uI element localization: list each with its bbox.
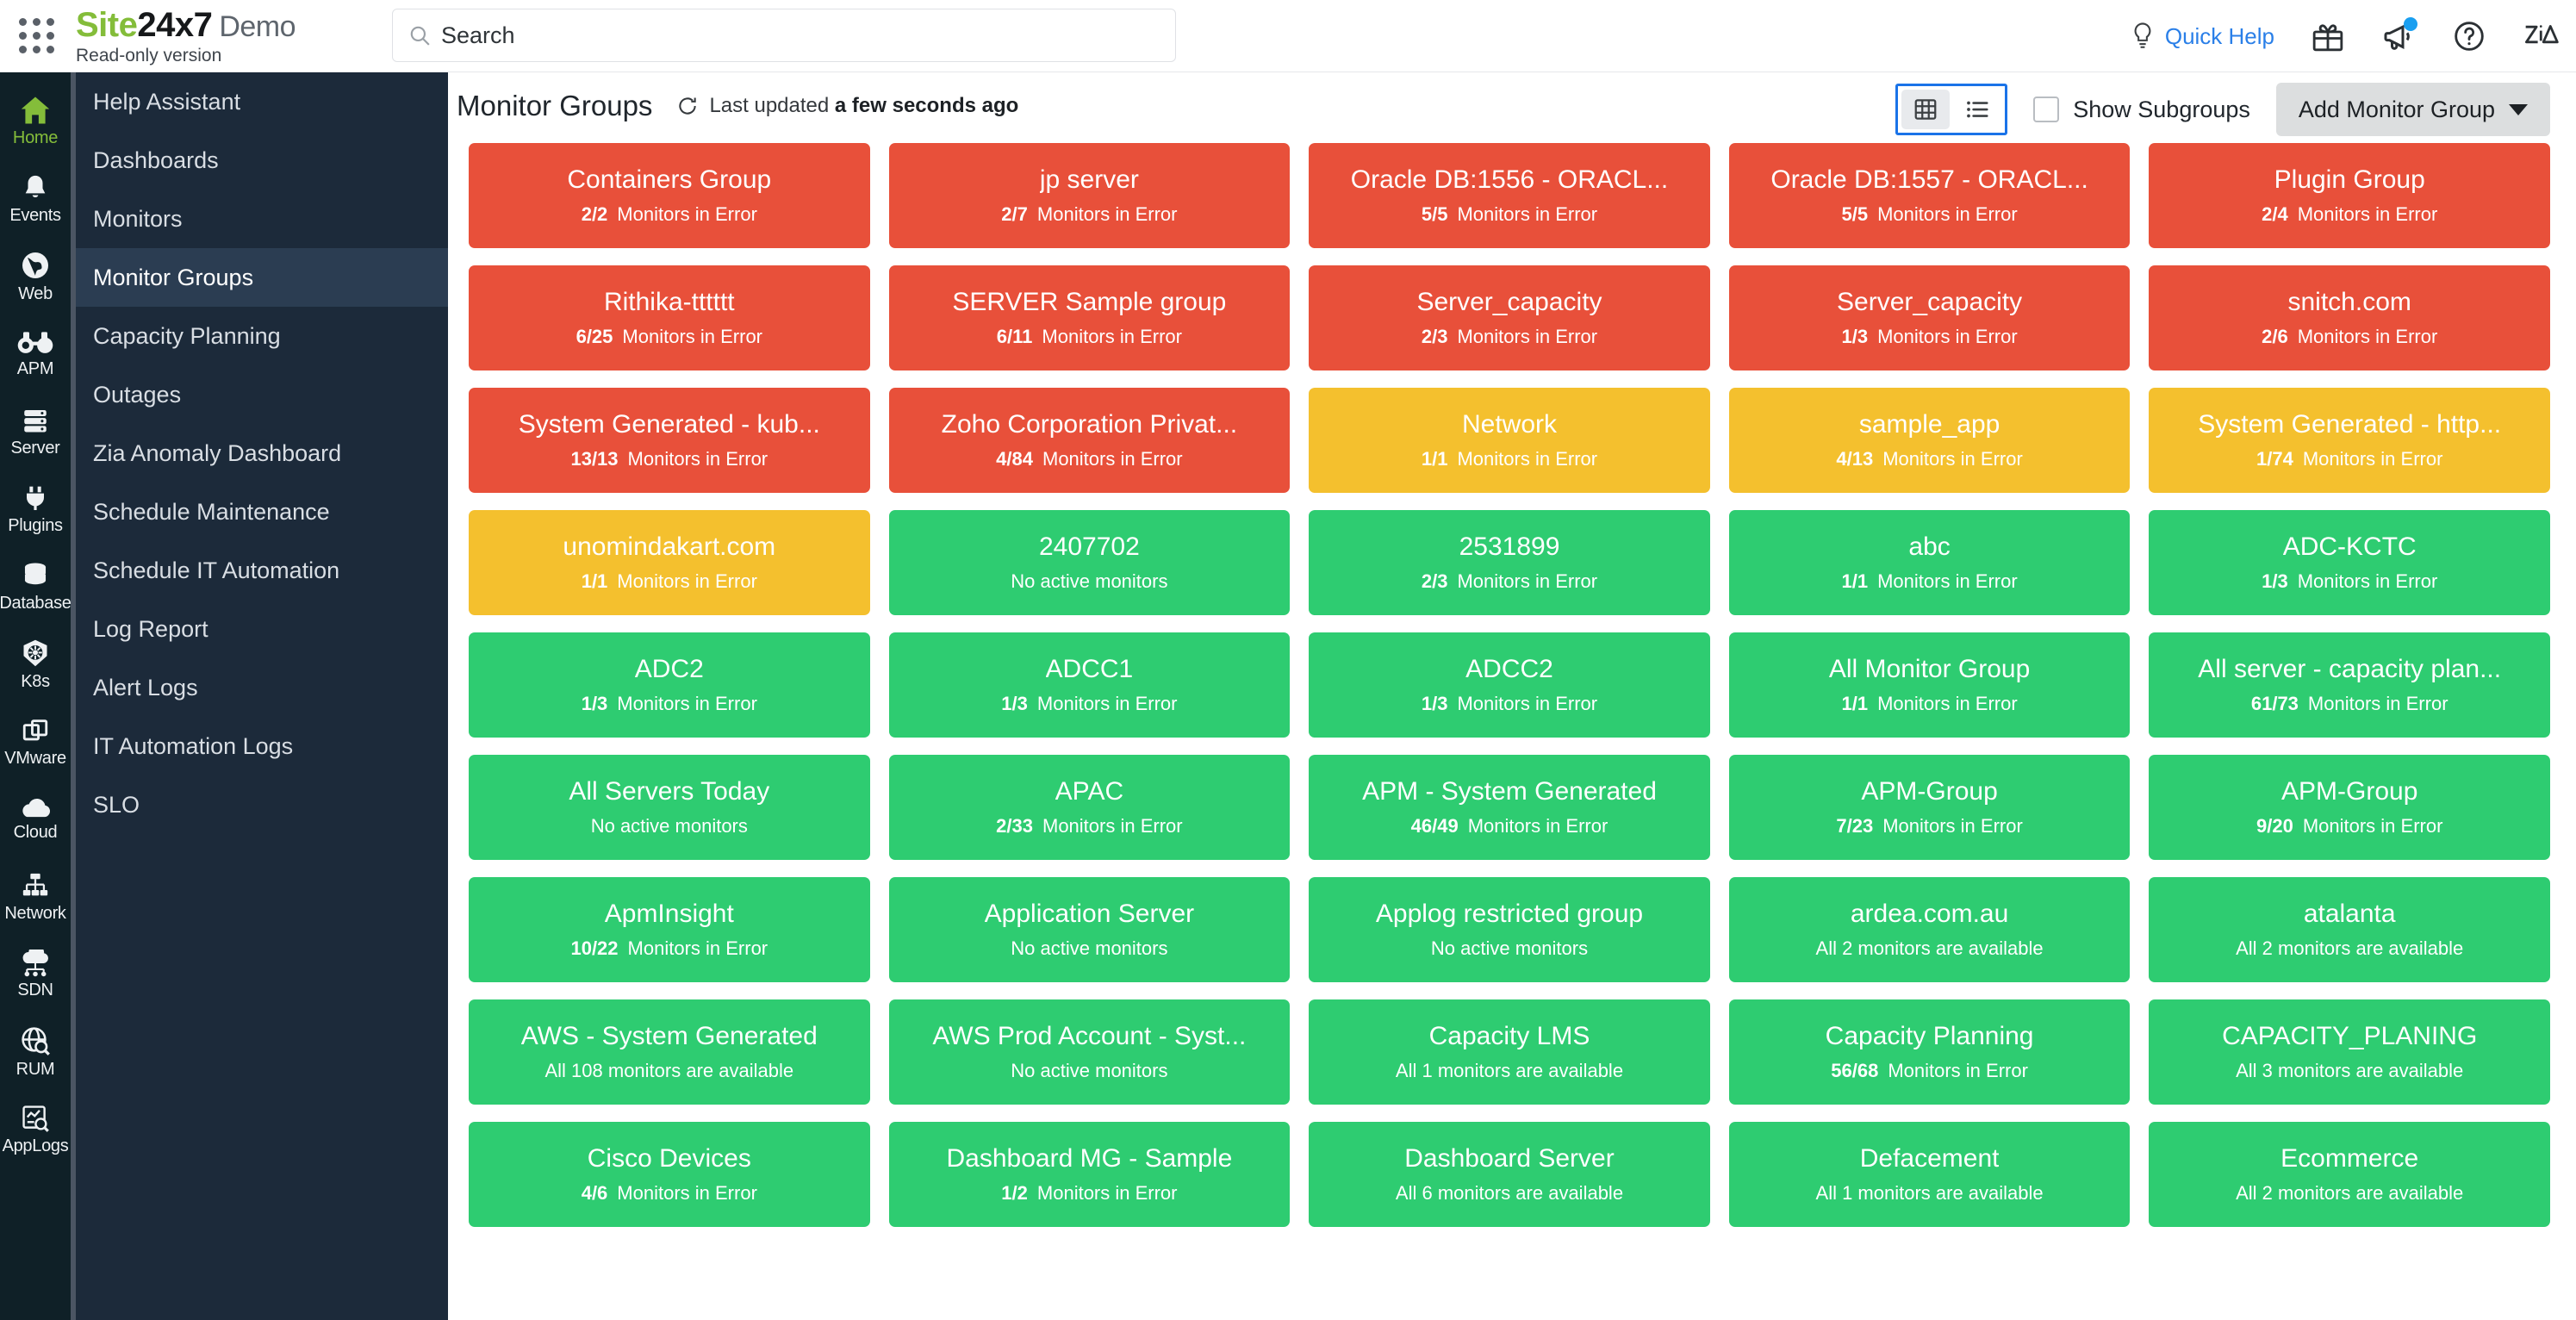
primary-nav-rail: Home Events Web APM Server Plugins Datab… [0,72,71,1320]
monitor-group-card[interactable]: ADCC11/3Monitors in Error [889,632,1291,738]
sidebar-item-outages[interactable]: Outages [76,365,448,424]
monitor-group-status: 2/4Monitors in Error [2262,203,2437,226]
monitor-group-status: 2/33Monitors in Error [996,815,1182,837]
monitor-group-status: No active monitors [1011,570,1167,593]
rail-label: RUM [16,1060,55,1080]
monitor-group-name: SERVER Sample group [952,288,1226,317]
refresh-icon[interactable] [676,95,699,117]
show-subgroups-label: Show Subgroups [2073,97,2250,123]
monitor-group-card[interactable]: Dashboard MG - Sample1/2Monitors in Erro… [889,1122,1291,1227]
monitor-group-card[interactable]: Capacity Planning56/68Monitors in Error [1729,999,2131,1105]
monitor-error-count: 1/3 [2262,570,2288,593]
monitor-group-status: 46/49Monitors in Error [1411,815,1608,837]
quick-help-label: Quick Help [2165,23,2274,50]
monitor-group-name: Plugin Group [2274,165,2425,195]
monitor-group-card[interactable]: ADC-KCTC1/3Monitors in Error [2149,510,2550,615]
monitor-status-text: No active monitors [591,815,748,837]
monitor-error-count: 4/6 [582,1182,608,1205]
monitor-group-status: 1/1Monitors in Error [582,570,757,593]
monitor-group-name: snitch.com [2288,288,2411,317]
monitor-group-status: 1/1Monitors in Error [1422,448,1597,470]
rail-item-plugins[interactable]: Plugins [0,470,71,548]
monitor-group-status: 13/13Monitors in Error [570,448,768,470]
search-input[interactable] [441,22,1160,49]
monitor-error-count: 7/23 [1836,815,1873,837]
monitor-group-name: sample_app [1859,410,2000,439]
monitor-group-status: All 108 monitors are available [544,1060,793,1082]
monitor-group-name: CAPACITY_PLANING [2222,1022,2477,1051]
monitor-group-name: Capacity Planning [1826,1022,2034,1051]
monitor-group-status: 1/2Monitors in Error [1001,1182,1177,1205]
monitor-group-card[interactable]: ApmInsight10/22Monitors in Error [469,877,870,982]
server-rack-icon [21,406,50,435]
monitor-group-card[interactable]: Network1/1Monitors in Error [1309,388,1710,493]
monitor-group-status: All 1 monitors are available [1396,1060,1623,1082]
search-icon [408,24,431,47]
monitor-group-card[interactable]: Server_capacity2/3Monitors in Error [1309,265,1710,370]
monitor-group-card[interactable]: SERVER Sample group6/11Monitors in Error [889,265,1291,370]
monitor-error-count: 10/22 [570,937,618,960]
monitor-status-text: Monitors in Error [1468,815,1608,837]
monitor-error-count: 1/3 [582,693,608,715]
monitor-group-card[interactable]: unomindakart.com1/1Monitors in Error [469,510,870,615]
gift-icon[interactable] [2311,19,2345,53]
sidebar-item-alert-logs[interactable]: Alert Logs [76,658,448,717]
rail-item-sdn[interactable]: SDN [0,936,71,1013]
monitor-error-count: 1/1 [1842,570,1869,593]
last-updated-text: Last updated a few seconds ago [709,94,1018,118]
page-title: Monitor Groups [457,90,652,122]
monitor-group-name: atalanta [2304,900,2396,929]
rail-label: Cloud [14,823,58,843]
monitor-group-card[interactable]: APM-Group9/20Monitors in Error [2149,755,2550,860]
header-controls: Show Subgroups Add Monitor Group [1895,83,2550,136]
monitor-group-name: Zoho Corporation Privat... [942,410,1238,439]
rail-item-applogs[interactable]: AppLogs [0,1091,71,1168]
monitor-group-status: 4/6Monitors in Error [582,1182,757,1205]
monitor-group-status: 1/3Monitors in Error [582,693,757,715]
monitor-group-name: All Monitor Group [1829,655,2030,684]
rail-item-apm[interactable]: APM [0,315,71,393]
monitor-group-status: 4/84Monitors in Error [996,448,1182,470]
globe-icon [20,250,51,281]
monitor-group-name: Oracle DB:1557 - ORACL... [1770,165,2088,195]
list-view-icon [1964,97,1990,122]
monitor-status-text: Monitors in Error [1457,203,1597,226]
monitor-group-card[interactable]: ADC21/3Monitors in Error [469,632,870,738]
sidebar-item-monitors[interactable]: Monitors [76,190,448,248]
binoculars-icon [17,330,53,356]
brand-logo[interactable]: Site24x7Demo Read-only version [76,8,296,65]
rail-item-events[interactable]: Events [0,160,71,238]
zia-logo-icon[interactable] [2523,19,2557,53]
brand-site: Site [76,6,137,44]
brand-demo: Demo [219,10,296,43]
brand-247: 24x7 [137,6,212,44]
monitor-group-card[interactable]: Oracle DB:1557 - ORACL...5/5Monitors in … [1729,143,2131,248]
monitor-error-count: 46/49 [1411,815,1459,837]
monitor-group-name: System Generated - kub... [519,410,820,439]
monitor-group-status: 2/7Monitors in Error [1001,203,1177,226]
monitor-group-card[interactable]: 25318992/3Monitors in Error [1309,510,1710,615]
monitor-group-status: 7/23Monitors in Error [1836,815,2022,837]
monitor-error-count: 2/2 [582,203,608,226]
secondary-sidebar: Help Assistant Dashboards Monitors Monit… [76,72,448,1320]
monitor-group-name: APM-Group [1861,777,1997,806]
bell-icon [21,173,50,202]
monitor-group-card[interactable]: Plugin Group2/4Monitors in Error [2149,143,2550,248]
rail-label: APM [17,359,53,379]
monitor-group-name: Network [1462,410,1557,439]
sidebar-item-log-report[interactable]: Log Report [76,600,448,658]
monitor-group-card[interactable]: snitch.com2/6Monitors in Error [2149,265,2550,370]
monitor-group-status: All 6 monitors are available [1396,1182,1623,1205]
monitor-group-status: 9/20Monitors in Error [2256,815,2442,837]
monitor-group-name: ADCC1 [1046,655,1134,684]
globe-search-icon [20,1025,51,1056]
monitor-status-text: All 2 monitors are available [1816,937,2044,960]
monitor-status-text: Monitors in Error [617,203,757,226]
monitor-error-count: 2/4 [2262,203,2288,226]
monitor-group-status: 1/3Monitors in Error [2262,570,2437,593]
sidebar-item-slo[interactable]: SLO [76,775,448,834]
windows-stack-icon [21,716,50,745]
monitor-error-count: 9/20 [2256,815,2293,837]
grid-view-icon [1913,97,1938,122]
rail-label: Plugins [8,516,63,536]
monitor-status-text: No active monitors [1011,570,1167,593]
monitor-error-count: 4/84 [996,448,1033,470]
monitor-group-status: 1/74Monitors in Error [2256,448,2442,470]
monitor-group-name: Containers Group [567,165,771,195]
monitor-group-card[interactable]: AWS Prod Account - Syst...No active moni… [889,999,1291,1105]
monitor-status-text: Monitors in Error [2303,448,2443,470]
quick-help-button[interactable]: Quick Help [2130,22,2274,51]
monitor-group-card[interactable]: Zoho Corporation Privat...4/84Monitors i… [889,388,1291,493]
monitor-status-text: Monitors in Error [1042,326,1182,348]
plug-icon [22,483,49,513]
monitor-group-card[interactable]: Rithika-tttttt6/25Monitors in Error [469,265,870,370]
monitor-group-card[interactable]: APAC2/33Monitors in Error [889,755,1291,860]
monitor-group-name: ADCC2 [1465,655,1553,684]
rail-item-server[interactable]: Server [0,393,71,470]
log-search-icon [21,1104,50,1133]
monitor-group-name: jp server [1040,165,1139,195]
monitor-group-name: Applog restricted group [1376,900,1643,929]
monitor-status-text: Monitors in Error [1877,570,2018,593]
add-monitor-group-button[interactable]: Add Monitor Group [2276,83,2550,136]
monitor-group-card[interactable]: Dashboard ServerAll 6 monitors are avail… [1309,1122,1710,1227]
grid-view-button[interactable] [1901,90,1950,129]
monitor-group-card[interactable]: Application ServerNo active monitors [889,877,1291,982]
top-bar: Site24x7Demo Read-only version Quick Hel… [0,0,2576,72]
monitor-status-text: Monitors in Error [617,570,757,593]
monitor-group-card[interactable]: System Generated - kub...13/13Monitors i… [469,388,870,493]
monitor-error-count: 1/3 [1842,326,1869,348]
rail-label: K8s [21,672,50,692]
monitor-group-card[interactable]: atalantaAll 2 monitors are available [2149,877,2550,982]
monitor-group-name: ardea.com.au [1851,900,2008,929]
monitor-group-card[interactable]: DefacementAll 1 monitors are available [1729,1122,2131,1227]
monitor-group-name: unomindakart.com [563,532,775,562]
page-header: Monitor Groups Last updated a few second… [448,72,2576,140]
monitor-group-name: ADC2 [635,655,704,684]
monitor-status-text: Monitors in Error [617,1182,757,1205]
rail-label: Home [13,128,58,148]
monitor-status-text: Monitors in Error [1042,448,1183,470]
monitor-group-status: No active monitors [591,815,748,837]
monitor-group-name: APM-Group [2281,777,2417,806]
monitor-error-count: 1/3 [1422,693,1448,715]
monitor-group-card[interactable]: AWS - System GeneratedAll 108 monitors a… [469,999,870,1105]
monitor-status-text: All 1 monitors are available [1396,1060,1623,1082]
sidebar-item-zia-anomaly-dashboard[interactable]: Zia Anomaly Dashboard [76,424,448,483]
monitor-group-status: 1/1Monitors in Error [1842,570,2018,593]
notification-badge [2404,17,2417,31]
rail-item-web[interactable]: Web [0,238,71,315]
global-search[interactable] [392,9,1176,62]
show-subgroups-toggle[interactable]: Show Subgroups [2033,97,2250,123]
sidebar-item-it-automation-logs[interactable]: IT Automation Logs [76,717,448,775]
monitor-group-status: 4/13Monitors in Error [1836,448,2022,470]
rail-item-cloud[interactable]: Cloud [0,781,71,858]
monitor-status-text: No active monitors [1431,937,1588,960]
rail-item-home[interactable]: Home [0,83,71,160]
monitor-group-status: 61/73Monitors in Error [2251,693,2448,715]
monitor-group-status: All 2 monitors are available [2236,937,2463,960]
monitor-group-name: ADC-KCTC [2283,532,2417,562]
monitor-group-card[interactable]: APM-Group7/23Monitors in Error [1729,755,2131,860]
monitor-status-text: Monitors in Error [1457,693,1597,715]
monitor-group-card[interactable]: Capacity LMSAll 1 monitors are available [1309,999,1710,1105]
monitor-status-text: No active monitors [1011,1060,1167,1082]
monitor-status-text: Monitors in Error [1037,203,1178,226]
monitor-error-count: 6/25 [576,326,613,348]
monitor-status-text: Monitors in Error [1457,570,1597,593]
monitor-status-text: Monitors in Error [1882,448,2023,470]
monitor-error-count: 2/6 [2262,326,2288,348]
monitor-group-name: All server - capacity plan... [2198,655,2501,684]
monitor-group-status: 2/3Monitors in Error [1422,326,1597,348]
monitor-group-name: abc [1908,532,1950,562]
monitor-group-name: All Servers Today [569,777,769,806]
main-content: Monitor Groups Last updated a few second… [448,72,2576,1320]
chevron-down-icon [2509,104,2528,115]
monitor-group-card[interactable]: Oracle DB:1556 - ORACL...5/5Monitors in … [1309,143,1710,248]
sidebar-item-monitor-groups[interactable]: Monitor Groups [76,248,448,307]
monitor-error-count: 1/1 [1842,693,1869,715]
monitor-group-status: 6/25Monitors in Error [576,326,762,348]
monitor-group-card[interactable]: System Generated - http...1/74Monitors i… [2149,388,2550,493]
monitor-group-status: 56/68Monitors in Error [1831,1060,2028,1082]
brand-subtitle: Read-only version [76,47,296,65]
monitor-status-text: Monitors in Error [622,326,762,348]
monitor-group-card[interactable]: EcommerceAll 2 monitors are available [2149,1122,2550,1227]
monitor-error-count: 2/3 [1422,570,1448,593]
monitor-status-text: Monitors in Error [2298,570,2438,593]
rail-label: Events [9,206,60,226]
monitor-status-text: Monitors in Error [628,937,768,960]
monitor-group-card[interactable]: Server_capacity1/3Monitors in Error [1729,265,2131,370]
monitor-group-name: AWS - System Generated [521,1022,818,1051]
home-icon [18,96,53,125]
monitor-error-count: 2/33 [996,815,1033,837]
monitor-group-card[interactable]: ADCC21/3Monitors in Error [1309,632,1710,738]
monitor-group-status: 2/2Monitors in Error [582,203,757,226]
monitor-status-text: Monitors in Error [617,693,757,715]
rail-item-database[interactable]: Database [0,548,71,626]
monitor-status-text: Monitors in Error [1037,693,1178,715]
monitor-group-status: All 1 monitors are available [1816,1182,2044,1205]
monitor-group-status: 2/6Monitors in Error [2262,326,2437,348]
monitor-group-status: All 2 monitors are available [1816,937,2044,960]
monitor-error-count: 1/74 [2256,448,2293,470]
monitor-group-card[interactable]: 2407702No active monitors [889,510,1291,615]
monitor-group-card[interactable]: CAPACITY_PLANINGAll 3 monitors are avail… [2149,999,2550,1105]
monitor-error-count: 56/68 [1831,1060,1878,1082]
monitor-group-card[interactable]: All Servers TodayNo active monitors [469,755,870,860]
monitor-status-text: No active monitors [1011,937,1167,960]
help-circle-icon[interactable] [2452,19,2486,53]
network-topology-icon [21,871,50,900]
monitor-error-count: 5/5 [1842,203,1869,226]
last-updated-value: a few seconds ago [835,94,1018,117]
top-bar-actions: Quick Help [2130,0,2557,72]
monitor-group-name: Rithika-tttttt [604,288,735,317]
monitor-group-name: Application Server [985,900,1194,929]
monitor-group-card[interactable]: Cisco Devices4/6Monitors in Error [469,1122,870,1227]
rail-label: SDN [17,981,53,1000]
rail-label: AppLogs [3,1136,69,1156]
monitor-group-status: 6/11Monitors in Error [997,326,1182,348]
monitor-status-text: Monitors in Error [628,448,768,470]
monitor-error-count: 13/13 [570,448,618,470]
monitor-status-text: All 2 monitors are available [2236,937,2463,960]
monitor-group-card[interactable]: jp server2/7Monitors in Error [889,143,1291,248]
monitor-group-status: No active monitors [1431,937,1588,960]
monitor-group-name: Cisco Devices [588,1144,751,1174]
kubernetes-helm-icon [20,638,51,669]
monitor-status-text: Monitors in Error [1042,815,1183,837]
monitor-error-count: 61/73 [2251,693,2299,715]
monitor-group-status: 5/5Monitors in Error [1422,203,1597,226]
monitor-group-status: 1/3Monitors in Error [1001,693,1177,715]
monitor-group-name: Server_capacity [1837,288,2022,317]
monitor-group-name: Dashboard Server [1404,1144,1614,1174]
monitor-group-name: Capacity LMS [1429,1022,1590,1051]
rail-item-rum[interactable]: RUM [0,1013,71,1091]
monitor-group-status: All 2 monitors are available [2236,1182,2463,1205]
monitor-group-name: APM - System Generated [1362,777,1657,806]
monitor-group-name: AWS Prod Account - Syst... [932,1022,1246,1051]
monitor-group-name: Ecommerce [2280,1144,2418,1174]
sidebar-item-help-assistant[interactable]: Help Assistant [76,72,448,131]
sidebar-item-dashboards[interactable]: Dashboards [76,131,448,190]
monitor-status-text: Monitors in Error [2303,815,2443,837]
monitor-error-count: 1/3 [1001,693,1028,715]
monitor-group-name: Oracle DB:1556 - ORACL... [1351,165,1668,195]
monitor-status-text: Monitors in Error [1882,815,2023,837]
monitor-group-card[interactable]: abc1/1Monitors in Error [1729,510,2131,615]
rail-label: Server [10,439,59,458]
apps-grid-icon[interactable] [0,0,72,72]
monitor-error-count: 1/2 [1001,1182,1028,1205]
monitor-group-card[interactable]: ardea.com.auAll 2 monitors are available [1729,877,2131,982]
rail-item-network[interactable]: Network [0,858,71,936]
monitor-group-name: 2531899 [1459,532,1560,562]
add-monitor-group-label: Add Monitor Group [2299,97,2495,123]
monitor-status-text: Monitors in Error [1888,1060,2028,1082]
monitor-group-card[interactable]: Applog restricted groupNo active monitor… [1309,877,1710,982]
monitor-group-card[interactable]: sample_app4/13Monitors in Error [1729,388,2131,493]
monitor-status-text: Monitors in Error [1877,693,2018,715]
monitor-group-name: APAC [1055,777,1123,806]
sidebar-item-schedule-maintenance[interactable]: Schedule Maintenance [76,483,448,541]
rail-label: Network [4,904,65,924]
monitor-status-text: All 1 monitors are available [1816,1182,2044,1205]
monitor-group-status: 1/3Monitors in Error [1842,326,2018,348]
monitor-status-text: Monitors in Error [1457,448,1597,470]
monitor-group-name: 2407702 [1039,532,1140,562]
monitor-error-count: 6/11 [997,326,1033,348]
monitor-group-status: 1/1Monitors in Error [1842,693,2018,715]
monitor-status-text: All 3 monitors are available [2236,1060,2463,1082]
view-mode-toggle[interactable] [1895,84,2007,135]
sidebar-item-schedule-it-automation[interactable]: Schedule IT Automation [76,541,448,600]
sidebar-item-capacity-planning[interactable]: Capacity Planning [76,307,448,365]
rail-label: Database [0,594,71,613]
monitor-group-name: System Generated - http... [2198,410,2501,439]
monitor-group-card[interactable]: Containers Group2/2Monitors in Error [469,143,870,248]
list-view-button[interactable] [1953,90,2001,129]
monitor-error-count: 4/13 [1836,448,1873,470]
monitor-group-card[interactable]: APM - System Generated46/49Monitors in E… [1309,755,1710,860]
monitor-group-name: Server_capacity [1416,288,1602,317]
show-subgroups-checkbox[interactable] [2033,97,2059,122]
monitor-status-text: Monitors in Error [1037,1182,1178,1205]
monitor-group-name: Defacement [1860,1144,2000,1174]
monitor-status-text: Monitors in Error [1877,203,2018,226]
last-updated-prefix: Last updated [709,94,829,117]
rail-item-vmware[interactable]: VMware [0,703,71,781]
monitor-status-text: Monitors in Error [2308,693,2448,715]
rail-label: VMware [4,749,66,769]
monitor-error-count: 5/5 [1422,203,1448,226]
monitor-group-card[interactable]: All Monitor Group1/1Monitors in Error [1729,632,2131,738]
database-icon [21,561,50,590]
monitor-error-count: 2/3 [1422,326,1448,348]
monitor-group-status: All 3 monitors are available [2236,1060,2463,1082]
rail-item-k8s[interactable]: K8s [0,626,71,703]
monitor-group-name: ApmInsight [605,900,734,929]
announcement-megaphone-icon[interactable] [2381,19,2416,53]
monitor-group-grid: Containers Group2/2Monitors in Errorjp s… [448,140,2576,1227]
monitor-group-name: Dashboard MG - Sample [946,1144,1232,1174]
monitor-error-count: 2/7 [1001,203,1028,226]
monitor-status-text: Monitors in Error [1457,326,1597,348]
monitor-group-status: 5/5Monitors in Error [1842,203,2018,226]
monitor-error-count: 1/1 [1422,448,1448,470]
monitor-group-status: 2/3Monitors in Error [1422,570,1597,593]
cloud-icon [19,797,52,819]
monitor-status-text: Monitors in Error [2298,326,2438,348]
monitor-group-card[interactable]: All server - capacity plan...61/73Monito… [2149,632,2550,738]
monitor-status-text: Monitors in Error [1877,326,2018,348]
monitor-group-status: 1/3Monitors in Error [1422,693,1597,715]
monitor-status-text: All 2 monitors are available [2236,1182,2463,1205]
sdn-cloud-icon [20,950,51,977]
monitor-group-status: No active monitors [1011,1060,1167,1082]
